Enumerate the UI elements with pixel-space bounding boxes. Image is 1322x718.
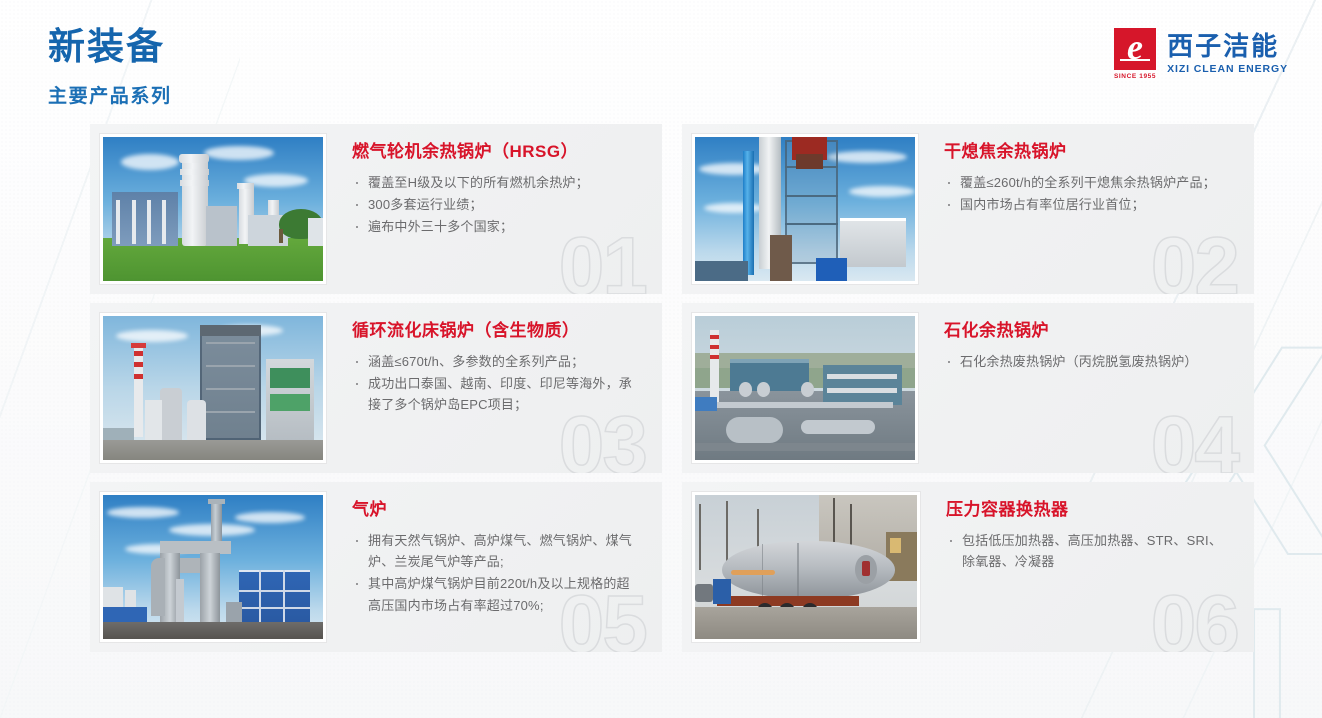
card-bullet: 国内市场占有率位居行业首位；: [944, 194, 1230, 215]
company-logo: e SINCE 1955 西子洁能 XIZI CLEAN ENERGY: [1114, 28, 1288, 80]
card-bullet-list: 涵盖≤670t/h、多参数的全系列产品； 成功出口泰国、越南、印度、印尼等海外，…: [352, 351, 638, 415]
slide-root: X I 新装备 主要产品系列 e SINCE 1955 西子洁能 XIZI CL…: [0, 0, 1322, 718]
page-title: 新装备: [48, 26, 172, 69]
logo-e-glyph: e: [1127, 29, 1143, 65]
slide-header: 新装备 主要产品系列: [48, 26, 172, 108]
pressure-vessel-heat-exchanger-photo: [692, 492, 920, 642]
product-card[interactable]: 01: [90, 124, 662, 294]
card-title: 石化余热锅炉: [944, 321, 1230, 341]
card-bullet-list: 拥有天然气锅炉、高炉煤气、燃气锅炉、煤气炉、兰炭尾气炉等产品; 其中高炉煤气锅炉…: [352, 530, 638, 615]
card-body: 气炉 拥有天然气锅炉、高炉煤气、燃气锅炉、煤气炉、兰炭尾气炉等产品; 其中高炉煤…: [326, 492, 652, 642]
card-bullet: 拥有天然气锅炉、高炉煤气、燃气锅炉、煤气炉、兰炭尾气炉等产品;: [352, 530, 638, 572]
card-bullet: 石化余热废热锅炉（丙烷脱氢废热锅炉）: [944, 351, 1230, 372]
card-title: 循环流化床锅炉（含生物质）: [352, 321, 638, 341]
card-bullet-list: 覆盖至H级及以下的所有燃机余热炉； 300多套运行业绩； 遍布中外三十多个国家；: [352, 172, 638, 237]
card-body: 循环流化床锅炉（含生物质） 涵盖≤670t/h、多参数的全系列产品； 成功出口泰…: [326, 313, 652, 463]
card-bullet: 包括低压加热器、高压加热器、STR、SRI、除氧器、冷凝器: [946, 530, 1230, 572]
gas-fired-boiler-plant-photo: [100, 492, 326, 642]
product-card[interactable]: 05: [90, 482, 662, 652]
product-card[interactable]: 04: [682, 303, 1254, 473]
card-title: 压力容器换热器: [946, 500, 1230, 520]
card-bullet-list: 包括低压加热器、高压加热器、STR、SRI、除氧器、冷凝器: [946, 530, 1230, 572]
page-subtitle: 主要产品系列: [48, 81, 172, 108]
logo-wordmark: 西子洁能 XIZI CLEAN ENERGY: [1167, 33, 1288, 74]
card-body: 压力容器换热器 包括低压加热器、高压加热器、STR、SRI、除氧器、冷凝器: [920, 492, 1244, 642]
logo-mark: e SINCE 1955: [1114, 28, 1156, 80]
logo-name-cn: 西子洁能: [1167, 33, 1288, 60]
product-card[interactable]: 06: [682, 482, 1254, 652]
card-title: 干熄焦余热锅炉: [944, 142, 1230, 162]
card-bullet: 其中高炉煤气锅炉目前220t/h及以上规格的超高压国内市场占有率超过70%;: [352, 573, 638, 615]
card-bullet: 覆盖至H级及以下的所有燃机余热炉；: [352, 172, 638, 193]
product-card[interactable]: 03: [90, 303, 662, 473]
card-body: 干熄焦余热锅炉 覆盖≤260t/h的全系列干熄焦余热锅炉产品； 国内市场占有率位…: [918, 134, 1244, 284]
card-bullet: 涵盖≤670t/h、多参数的全系列产品；: [352, 351, 638, 372]
card-title: 燃气轮机余热锅炉（HRSG）: [352, 142, 638, 162]
circulating-fluidized-bed-boiler-photo: [100, 313, 326, 463]
dry-coke-quenching-boiler-photo: [692, 134, 918, 284]
card-bullet-list: 石化余热废热锅炉（丙烷脱氢废热锅炉）: [944, 351, 1230, 372]
card-bullet: 300多套运行业绩；: [352, 194, 638, 215]
card-bullet: 覆盖≤260t/h的全系列干熄焦余热锅炉产品；: [944, 172, 1230, 193]
card-title: 气炉: [352, 500, 638, 520]
product-card-grid: 01: [90, 124, 1254, 652]
card-body: 石化余热锅炉 石化余热废热锅炉（丙烷脱氢废热锅炉）: [918, 313, 1244, 463]
product-card[interactable]: 02 干熄焦余热锅: [682, 124, 1254, 294]
card-bullet-list: 覆盖≤260t/h的全系列干熄焦余热锅炉产品； 国内市场占有率位居行业首位；: [944, 172, 1230, 215]
card-bullet: 成功出口泰国、越南、印度、印尼等海外，承接了多个锅炉岛EPC项目；: [352, 373, 638, 415]
logo-name-en: XIZI CLEAN ENERGY: [1167, 63, 1288, 75]
gas-turbine-hrsg-plant-photo: [100, 134, 326, 284]
card-bullet: 遍布中外三十多个国家；: [352, 216, 638, 237]
logo-square-icon: e: [1114, 28, 1156, 70]
petrochemical-waste-heat-boiler-photo: [692, 313, 918, 463]
card-body: 燃气轮机余热锅炉（HRSG） 覆盖至H级及以下的所有燃机余热炉； 300多套运行…: [326, 134, 652, 284]
logo-since-text: SINCE 1955: [1114, 73, 1156, 80]
